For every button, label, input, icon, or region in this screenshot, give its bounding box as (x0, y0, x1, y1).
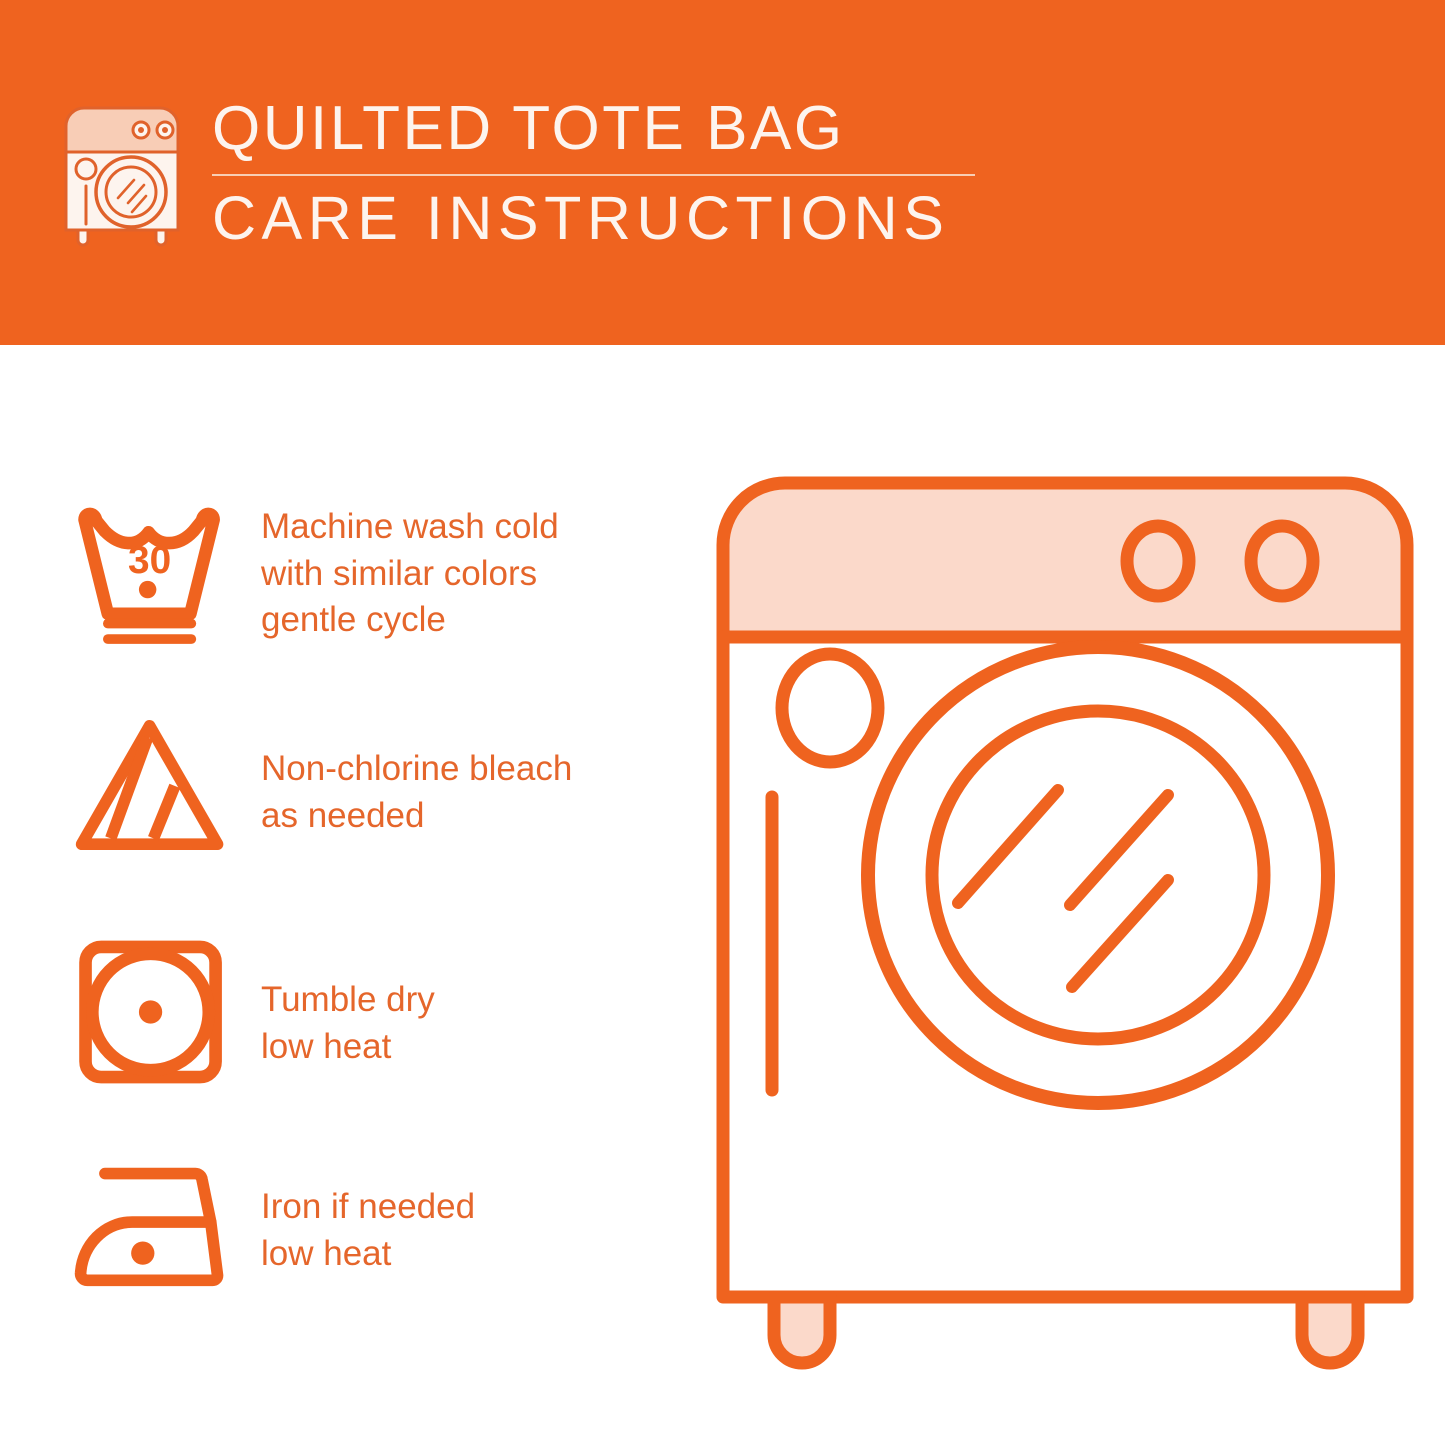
care-item-iron: Iron if needed low heat (70, 1150, 690, 1300)
title-divider (212, 174, 975, 176)
washing-machine-illustration (710, 465, 1420, 1375)
care-line: low heat (261, 1231, 475, 1278)
care-item-label-machine-wash: Machine wash cold with similar colors ge… (235, 500, 559, 644)
knob-2 (1251, 526, 1313, 596)
header-text-block: QUILTED TOTE BAG CARE INSTRUCTIONS (212, 98, 982, 249)
tumble-dry-icon (70, 937, 235, 1087)
care-line: Machine wash cold (261, 504, 559, 551)
care-item-label-bleach: Non-chlorine bleach as needed (235, 710, 572, 839)
care-item-label-iron: Iron if needed low heat (235, 1150, 475, 1277)
care-line: gentle cycle (261, 597, 559, 644)
care-line: with similar colors (261, 551, 559, 598)
wash-tub-30-icon: 30 (70, 500, 235, 650)
knob-1 (1127, 526, 1189, 596)
care-line: low heat (261, 1024, 435, 1071)
care-instruction-list: 30 Machine wash cold with similar colors… (0, 345, 700, 1445)
iron-icon (70, 1150, 235, 1300)
care-item-bleach: Non-chlorine bleach as needed (70, 710, 690, 860)
washing-machine-icon (62, 100, 182, 250)
page-header: QUILTED TOTE BAG CARE INSTRUCTIONS (0, 0, 1445, 345)
care-instructions-page: QUILTED TOTE BAG CARE INSTRUCTIONS 30 (0, 0, 1445, 1445)
leg-left (774, 1297, 830, 1363)
care-line: Iron if needed (261, 1184, 475, 1231)
page-title: QUILTED TOTE BAG (212, 98, 982, 160)
page-subtitle: CARE INSTRUCTIONS (212, 188, 982, 249)
care-line: Non-chlorine bleach (261, 746, 572, 793)
care-line: Tumble dry (261, 977, 435, 1024)
care-line: as needed (261, 793, 572, 840)
care-item-label-tumble-dry: Tumble dry low heat (235, 937, 435, 1070)
leg-right (1302, 1297, 1358, 1363)
wash-temperature-label: 30 (128, 539, 171, 582)
care-item-machine-wash: 30 Machine wash cold with similar colors… (70, 500, 690, 650)
care-item-tumble-dry: Tumble dry low heat (70, 937, 690, 1087)
bleach-triangle-icon (70, 710, 235, 860)
